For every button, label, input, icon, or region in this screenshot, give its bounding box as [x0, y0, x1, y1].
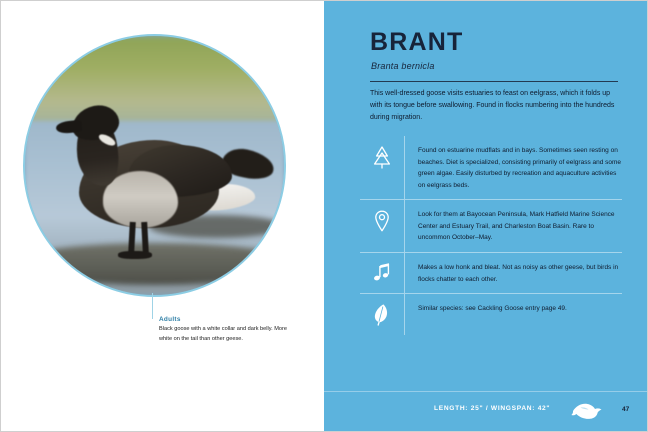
tree-icon — [360, 144, 404, 169]
info-row-similar-species: Similar species: see Cackling Goose entr… — [360, 293, 622, 335]
row-divider — [404, 294, 405, 335]
book-spread: Adults Black goose with a white collar a… — [0, 0, 648, 432]
goose-leg-left — [128, 222, 136, 253]
caption-leader-line — [152, 293, 153, 319]
info-text-habitat: Found on estuarine mudflats and in bays.… — [404, 144, 622, 191]
left-page: Adults Black goose with a white collar a… — [1, 1, 324, 431]
goose-feet — [118, 251, 152, 259]
page-footer: LENGTH: 25" / WINGSPAN: 42" 47 — [324, 391, 647, 431]
row-divider — [404, 253, 405, 293]
feather-icon — [360, 302, 404, 327]
info-table: Found on estuarine mudflats and in bays.… — [360, 136, 622, 335]
info-text-similar-species: Similar species: see Cackling Goose entr… — [404, 302, 622, 315]
info-row-habitat: Found on estuarine mudflats and in bays.… — [360, 136, 622, 199]
goose-leg-right — [141, 222, 149, 253]
intro-paragraph: This well-dressed goose visits estuaries… — [370, 88, 622, 124]
row-divider — [404, 136, 405, 199]
measurements-text: LENGTH: 25" / WINGSPAN: 42" — [434, 405, 550, 412]
photo-illustration — [25, 36, 284, 295]
page-number: 47 — [622, 406, 629, 413]
music-note-icon — [360, 261, 404, 284]
photo-caption: Adults Black goose with a white collar a… — [159, 316, 299, 345]
page-title: BRANT — [370, 30, 464, 55]
map-pin-icon — [360, 208, 404, 233]
scientific-name: Branta bernicla — [371, 61, 435, 71]
photo-mud-near — [23, 243, 286, 284]
info-text-sound: Makes a low honk and bleat. Not as noisy… — [404, 261, 622, 285]
row-divider — [404, 200, 405, 252]
right-page: BRANT Branta bernicla This well-dressed … — [324, 1, 647, 431]
caption-body: Black goose with a white collar and dark… — [159, 325, 299, 345]
info-text-where-to-find: Look for them at Bayocean Peninsula, Mar… — [404, 208, 622, 244]
brant-goose-photo — [23, 34, 286, 297]
info-row-sound: Makes a low honk and bleat. Not as noisy… — [360, 252, 622, 293]
footer-divider — [324, 391, 647, 392]
photo-grass-band — [25, 36, 284, 129]
caption-title: Adults — [159, 316, 299, 323]
info-row-where-to-find: Look for them at Bayocean Peninsula, Mar… — [360, 199, 622, 252]
title-divider — [370, 81, 618, 82]
bird-silhouette-icon — [570, 399, 604, 426]
